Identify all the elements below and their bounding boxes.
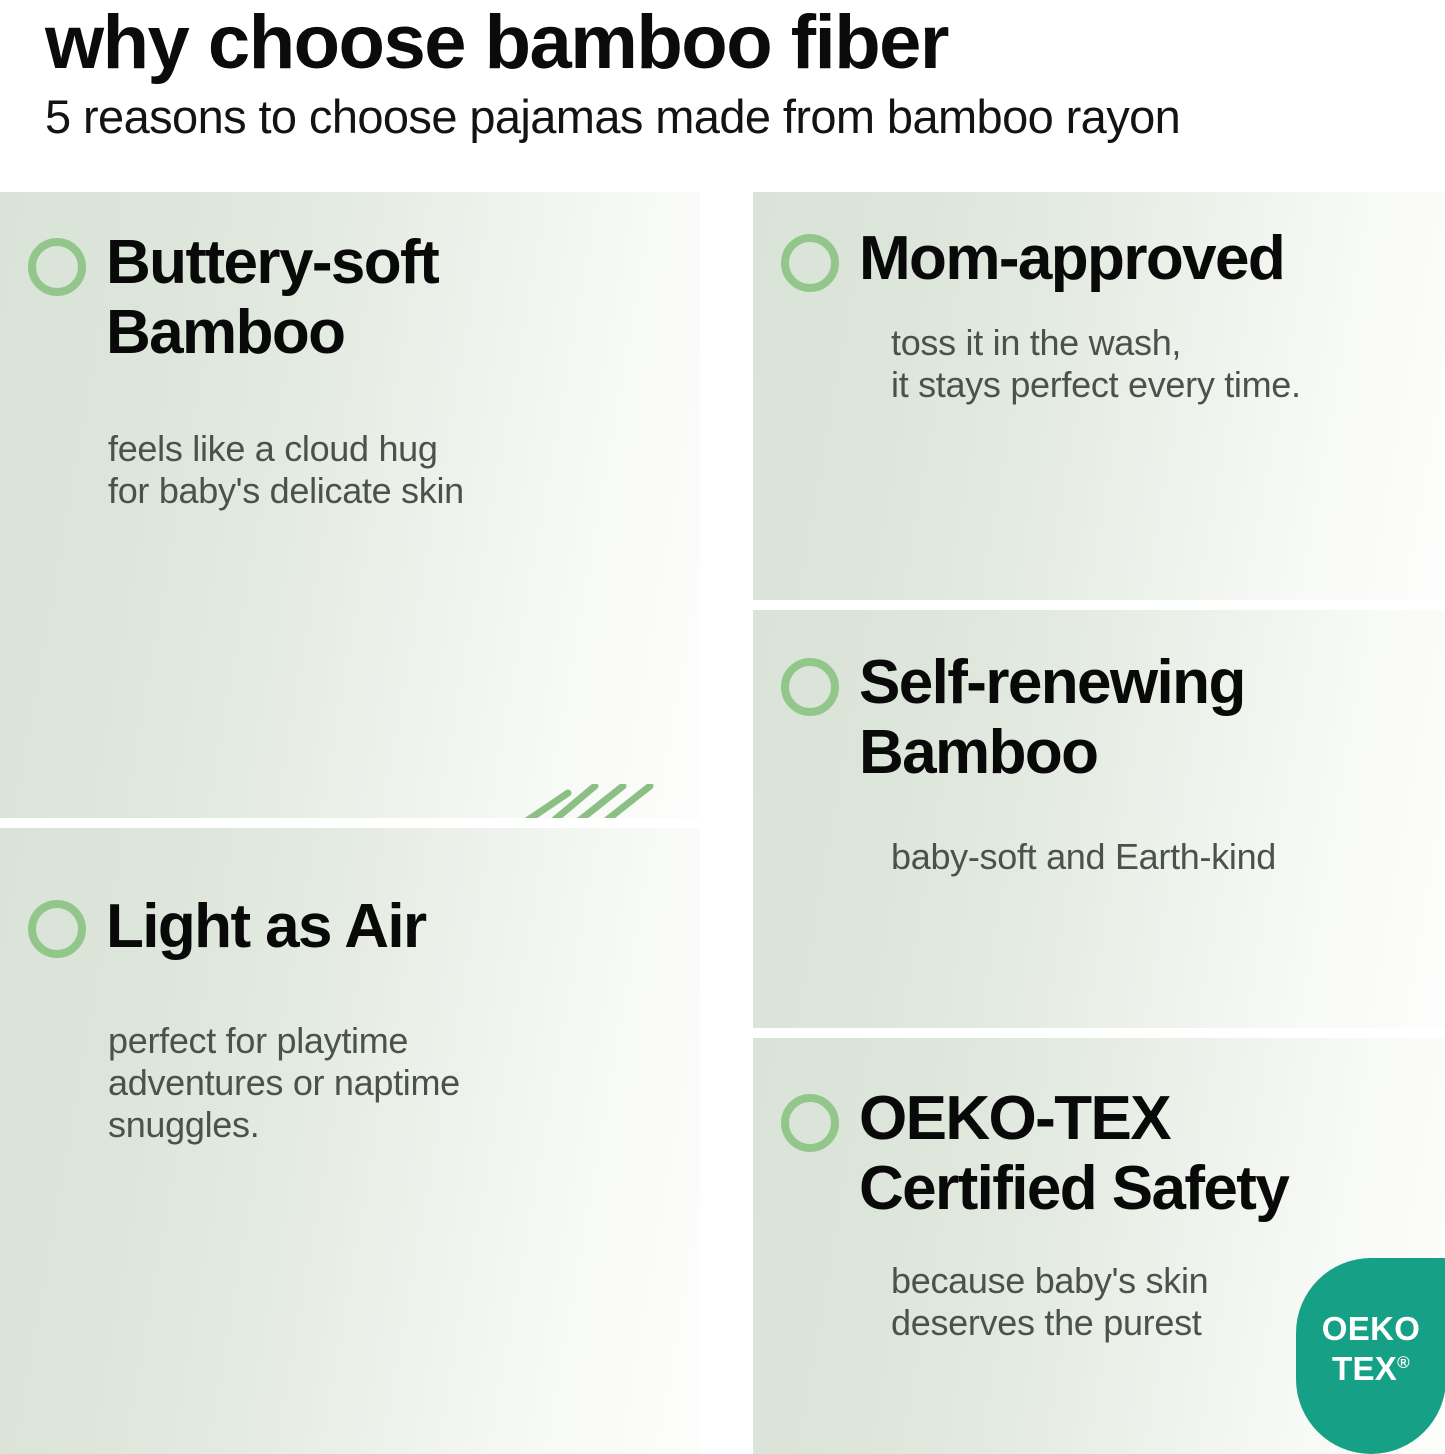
card-body-text: toss it in the wash, it stays perfect ev… bbox=[891, 322, 1301, 406]
card-heading-row: Light as Air bbox=[28, 892, 460, 962]
card-body-text: feels like a cloud hug for baby's delica… bbox=[108, 428, 464, 512]
card-heading-row: OEKO-TEX Certified Safety bbox=[781, 1084, 1288, 1224]
circle-bullet-icon bbox=[781, 234, 839, 292]
infographic-page: why choose bamboo fiber 5 reasons to cho… bbox=[0, 0, 1445, 1454]
card-body-text: perfect for playtime adventures or napti… bbox=[108, 1020, 460, 1146]
oeko-badge-line2-text: TEX bbox=[1332, 1350, 1397, 1387]
card-content: Self-renewing Bamboo baby-soft and Earth… bbox=[781, 648, 1276, 878]
circle-bullet-icon bbox=[28, 900, 86, 958]
circle-bullet-icon bbox=[781, 1094, 839, 1152]
oeko-badge-line2: TEX® bbox=[1332, 1346, 1410, 1386]
card-title: Mom-approved bbox=[859, 224, 1284, 294]
card-heading-row: Buttery-soft Bamboo bbox=[28, 228, 464, 368]
card-content: Buttery-soft Bamboo feels like a cloud h… bbox=[28, 228, 464, 512]
card-buttery-soft-bamboo: Buttery-soft Bamboo feels like a cloud h… bbox=[0, 192, 700, 818]
oeko-badge-line1: OEKO bbox=[1322, 1312, 1420, 1346]
registered-mark-icon: ® bbox=[1397, 1353, 1410, 1372]
card-body-text: because baby's skin deserves the purest bbox=[891, 1260, 1288, 1344]
card-body-text: baby-soft and Earth-kind bbox=[891, 836, 1276, 878]
oeko-tex-badge-icon: OEKO TEX® bbox=[1296, 1258, 1445, 1454]
card-light-as-air: Light as Air perfect for playtime advent… bbox=[0, 828, 700, 1454]
page-title: why choose bamboo fiber bbox=[45, 2, 1445, 84]
page-subtitle: 5 reasons to choose pajamas made from ba… bbox=[45, 86, 1445, 148]
circle-bullet-icon bbox=[781, 658, 839, 716]
card-title: Buttery-soft Bamboo bbox=[106, 228, 438, 368]
header: why choose bamboo fiber 5 reasons to cho… bbox=[0, 0, 1445, 192]
card-title: OEKO-TEX Certified Safety bbox=[859, 1084, 1288, 1224]
card-content: Light as Air perfect for playtime advent… bbox=[28, 892, 460, 1146]
soft-touch-hand-icon bbox=[474, 784, 694, 818]
card-heading-row: Mom-approved bbox=[781, 224, 1301, 294]
circle-bullet-icon bbox=[28, 238, 86, 296]
card-self-renewing-bamboo: Self-renewing Bamboo baby-soft and Earth… bbox=[753, 610, 1445, 1028]
card-heading-row: Self-renewing Bamboo bbox=[781, 648, 1276, 788]
card-content: Mom-approved toss it in the wash, it sta… bbox=[781, 224, 1301, 406]
card-content: OEKO-TEX Certified Safety because baby's… bbox=[781, 1084, 1288, 1344]
card-title: Light as Air bbox=[106, 892, 426, 962]
card-mom-approved: Mom-approved toss it in the wash, it sta… bbox=[753, 192, 1445, 600]
card-title: Self-renewing Bamboo bbox=[859, 648, 1245, 788]
